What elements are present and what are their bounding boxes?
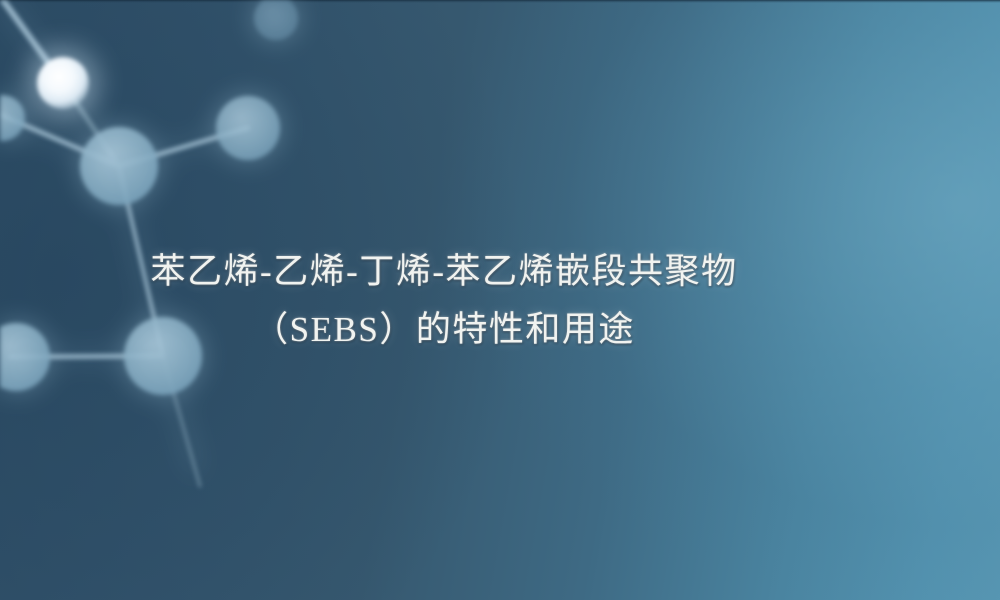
page-title-line-1: 苯乙烯-乙烯-丁烯-苯乙烯嵌段共聚物 <box>0 243 888 301</box>
molecule-node-highlight <box>37 57 89 109</box>
page-title: 苯乙烯-乙烯-丁烯-苯乙烯嵌段共聚物 （SEBS）的特性和用途 <box>0 243 1000 359</box>
top-edge-band <box>0 0 1000 3</box>
page-title-line-2: （SEBS）的特性和用途 <box>0 301 888 359</box>
title-card: 苯乙烯-乙烯-丁烯-苯乙烯嵌段共聚物 （SEBS）的特性和用途 <box>0 0 1000 600</box>
